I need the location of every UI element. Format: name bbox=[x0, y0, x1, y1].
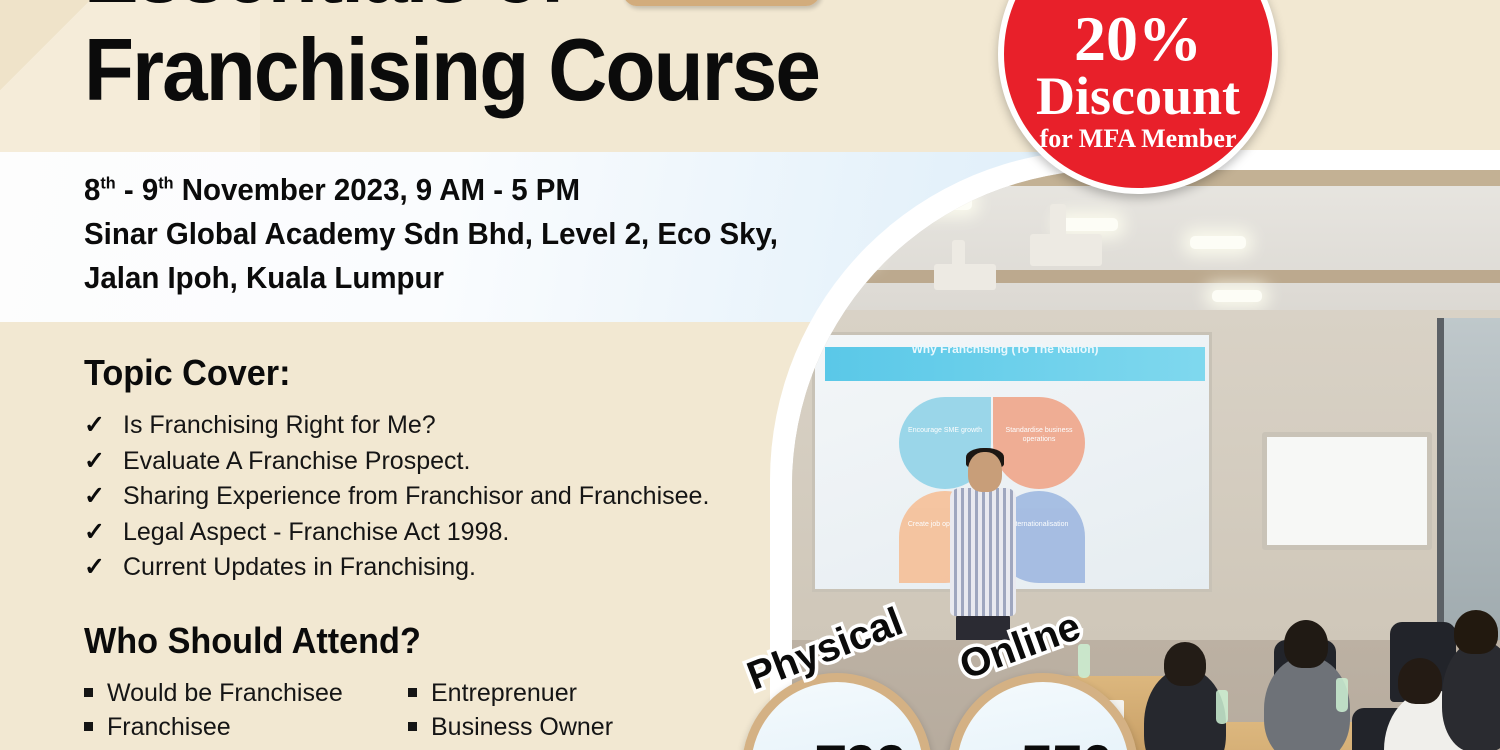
attendee-3-head bbox=[1398, 658, 1442, 704]
attendee-list-item: Entreprenuer bbox=[408, 676, 680, 710]
ceiling-beam bbox=[792, 270, 1500, 283]
check-icon: ✓ bbox=[84, 444, 106, 480]
attendee-label: Franchisee bbox=[107, 710, 231, 744]
attendees-columns: Would be Franchisee Franchisee Would be … bbox=[84, 676, 680, 750]
water-bottle-1 bbox=[1078, 644, 1090, 678]
topic-item: ✓ Evaluate A Franchise Prospect. bbox=[84, 444, 709, 480]
topic-label: Legal Aspect - Franchise Act 1998. bbox=[123, 515, 509, 551]
slide-petal-2-label: Standardise business operations bbox=[993, 427, 1085, 445]
topic-label: Is Franchising Right for Me? bbox=[123, 408, 436, 444]
ceiling-light-1 bbox=[912, 196, 972, 210]
ceiling-light-2 bbox=[1060, 218, 1118, 231]
slide-title: Why Franchising (To The Nation) bbox=[815, 342, 1195, 356]
attendee-list-item: Franchisee bbox=[84, 710, 356, 744]
event-date-line: 8th - 9th November 2023, 9 AM - 5 PM bbox=[84, 168, 778, 212]
price-amount-physical: 799 bbox=[814, 730, 905, 750]
price-amount-online: 550 bbox=[1020, 730, 1111, 750]
attendee-1-head bbox=[1164, 642, 1206, 686]
price-text-physical: RM 799 bbox=[769, 730, 906, 750]
attendee-list-item: Would be Franchisee bbox=[84, 676, 356, 710]
topics-heading: Topic Cover: bbox=[84, 352, 678, 394]
attendee-label: Would be Franchisee bbox=[107, 676, 343, 710]
hybrid-badge: HYBRID bbox=[623, 0, 820, 6]
projector-2 bbox=[934, 264, 996, 290]
square-bullet-icon bbox=[408, 722, 417, 731]
topics-section: Topic Cover: ✓ Is Franchising Right for … bbox=[84, 352, 709, 586]
presenter-head bbox=[968, 452, 1002, 492]
attendee-list-item: Business Owner bbox=[408, 710, 680, 744]
attendee-list-item: Would be Franchisor bbox=[84, 745, 356, 750]
ceiling-light-3 bbox=[1190, 236, 1246, 249]
check-icon: ✓ bbox=[84, 515, 106, 551]
event-info-text: 8th - 9th November 2023, 9 AM - 5 PM Sin… bbox=[84, 168, 778, 300]
classroom-photo-container: Why Franchising (To The Nation) Encourag… bbox=[770, 150, 1500, 750]
title-row-primary: Essentials of HYBRID bbox=[84, 0, 874, 14]
check-icon: ✓ bbox=[84, 550, 106, 586]
attendees-column-left: Would be Franchisee Franchisee Would be … bbox=[84, 676, 356, 750]
projector-mount-1 bbox=[1050, 204, 1066, 238]
window-partition bbox=[1437, 318, 1500, 648]
presenter-body bbox=[950, 488, 1016, 616]
poster-title: Essentials of HYBRID Franchising Course bbox=[84, 0, 874, 111]
title-line-2: Franchising Course bbox=[84, 28, 819, 112]
event-day-start: 8 bbox=[84, 172, 100, 207]
price-text-online: RM 550 bbox=[975, 730, 1112, 750]
attendee-2-head bbox=[1284, 620, 1328, 668]
event-day-end-ordinal: th bbox=[158, 174, 173, 193]
topics-list: ✓ Is Franchising Right for Me? ✓ Evaluat… bbox=[84, 408, 709, 586]
whiteboard bbox=[1262, 432, 1432, 550]
ceiling-light-5 bbox=[1212, 290, 1262, 302]
slide-petal-2: Standardise business operations bbox=[993, 397, 1085, 489]
check-icon: ✓ bbox=[84, 479, 106, 515]
check-icon: ✓ bbox=[84, 408, 106, 444]
topic-item: ✓ Sharing Experience from Franchisor and… bbox=[84, 479, 709, 515]
discount-subtitle: for MFA Member bbox=[1040, 125, 1237, 154]
event-day-end: 9 bbox=[142, 172, 158, 207]
event-day-start-ordinal: th bbox=[100, 174, 115, 193]
attendees-column-right: Entreprenuer Business Owner Consultants bbox=[408, 676, 680, 750]
title-line-1: Essentials of bbox=[84, 0, 565, 14]
attendee-label: Entreprenuer bbox=[431, 676, 577, 710]
event-day-separator: - bbox=[124, 172, 134, 207]
event-date-rest: November 2023, 9 AM - 5 PM bbox=[182, 172, 580, 207]
discount-word: Discount bbox=[1036, 69, 1240, 123]
square-bullet-icon bbox=[408, 688, 417, 697]
topic-item: ✓ Is Franchising Right for Me? bbox=[84, 408, 709, 444]
square-bullet-icon bbox=[84, 722, 93, 731]
topic-label: Sharing Experience from Franchisor and F… bbox=[123, 479, 709, 515]
poster-canvas: Why Franchising (To The Nation) Encourag… bbox=[0, 0, 1500, 750]
water-bottle-2 bbox=[1216, 690, 1228, 724]
event-venue-line-1: Sinar Global Academy Sdn Bhd, Level 2, E… bbox=[84, 212, 778, 256]
topic-label: Evaluate A Franchise Prospect. bbox=[123, 444, 470, 480]
attendee-list-item: Consultants bbox=[408, 745, 680, 750]
discount-percent: 20% bbox=[1074, 10, 1202, 69]
square-bullet-icon bbox=[84, 688, 93, 697]
attendee-label: Consultants bbox=[431, 745, 563, 750]
attendees-heading: Who Should Attend? bbox=[84, 620, 650, 662]
topic-item: ✓ Legal Aspect - Franchise Act 1998. bbox=[84, 515, 709, 551]
event-venue-line-2: Jalan Ipoh, Kuala Lumpur bbox=[84, 256, 778, 300]
topic-label: Current Updates in Franchising. bbox=[123, 550, 476, 586]
water-bottle-3 bbox=[1336, 678, 1348, 712]
classroom-photo: Why Franchising (To The Nation) Encourag… bbox=[792, 170, 1500, 750]
projector-1 bbox=[1030, 234, 1102, 266]
attendee-4-head bbox=[1454, 610, 1498, 654]
attendee-label: Business Owner bbox=[431, 710, 613, 744]
topic-item: ✓ Current Updates in Franchising. bbox=[84, 550, 709, 586]
ceiling-light-4 bbox=[820, 248, 872, 260]
attendee-label: Would be Franchisor bbox=[107, 745, 337, 750]
slide-petal-1-label: Encourage SME growth bbox=[899, 427, 991, 436]
attendees-section: Who Should Attend? Would be Franchisee F… bbox=[84, 620, 680, 750]
